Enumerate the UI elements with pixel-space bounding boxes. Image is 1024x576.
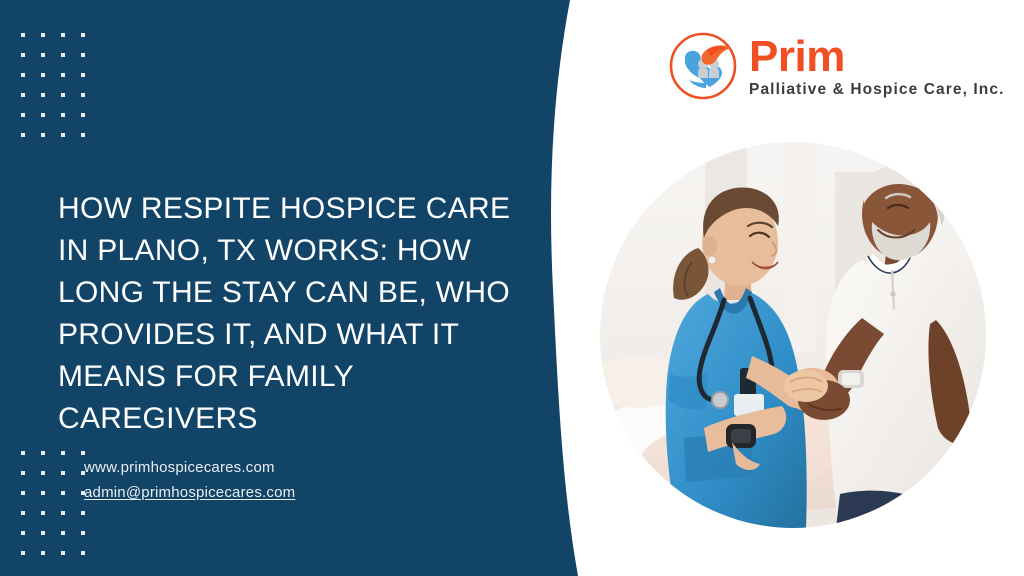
- decor-dot: [21, 491, 25, 495]
- decor-dot: [81, 53, 85, 57]
- decor-dot: [61, 133, 65, 137]
- logo-text-block: Prim Palliative & Hospice Care, Inc.: [749, 32, 1005, 100]
- decor-dot: [21, 53, 25, 57]
- decor-dot: [41, 113, 45, 117]
- decor-dot: [61, 33, 65, 37]
- decor-dot: [41, 511, 45, 515]
- decor-dot: [21, 551, 25, 555]
- decor-dot: [81, 551, 85, 555]
- logo-wordmark: Prim: [749, 34, 1005, 80]
- contact-block: www.primhospicecares.com admin@primhospi…: [84, 455, 295, 505]
- decor-dot: [41, 491, 45, 495]
- decor-dot: [21, 73, 25, 77]
- decor-dot: [61, 531, 65, 535]
- decor-dot: [81, 531, 85, 535]
- page-title: How Respite Hospice Care in Plano, TX Wo…: [58, 188, 518, 440]
- decor-dot: [81, 113, 85, 117]
- decor-dot: [61, 113, 65, 117]
- decor-dot: [41, 451, 45, 455]
- dot-grid-top-left: [21, 33, 85, 137]
- decor-dot: [21, 113, 25, 117]
- decor-dot: [81, 93, 85, 97]
- email-link[interactable]: admin@primhospicecares.com: [84, 480, 295, 505]
- decor-dot: [81, 511, 85, 515]
- decor-dot: [41, 53, 45, 57]
- decor-dot: [61, 551, 65, 555]
- decor-dot: [21, 33, 25, 37]
- decor-dot: [41, 33, 45, 37]
- website-text: www.primhospicecares.com: [84, 455, 295, 480]
- decor-dot: [21, 511, 25, 515]
- decor-dot: [81, 73, 85, 77]
- decor-dot: [41, 133, 45, 137]
- decor-dot: [81, 33, 85, 37]
- decor-dot: [41, 73, 45, 77]
- decor-dot: [61, 53, 65, 57]
- decor-dot: [81, 133, 85, 137]
- slide-canvas: How Respite Hospice Care in Plano, TX Wo…: [0, 0, 1024, 576]
- decor-dot: [41, 551, 45, 555]
- hero-photo: [600, 142, 986, 528]
- decor-dot: [61, 93, 65, 97]
- decor-dot: [61, 451, 65, 455]
- brand-logo[interactable]: Prim Palliative & Hospice Care, Inc.: [665, 28, 1005, 104]
- decor-dot: [21, 451, 25, 455]
- decor-dot: [61, 471, 65, 475]
- decor-dot: [21, 471, 25, 475]
- decor-dot: [61, 491, 65, 495]
- decor-dot: [41, 93, 45, 97]
- dot-grid-bottom-left: [21, 451, 85, 555]
- decor-dot: [41, 471, 45, 475]
- decor-dot: [41, 531, 45, 535]
- prim-heart-dove-logo-icon: [665, 28, 741, 104]
- decor-dot: [21, 133, 25, 137]
- decor-dot: [61, 511, 65, 515]
- decor-dot: [61, 73, 65, 77]
- decor-dot: [21, 531, 25, 535]
- decor-dot: [21, 93, 25, 97]
- logo-tagline: Palliative & Hospice Care, Inc.: [749, 80, 1005, 100]
